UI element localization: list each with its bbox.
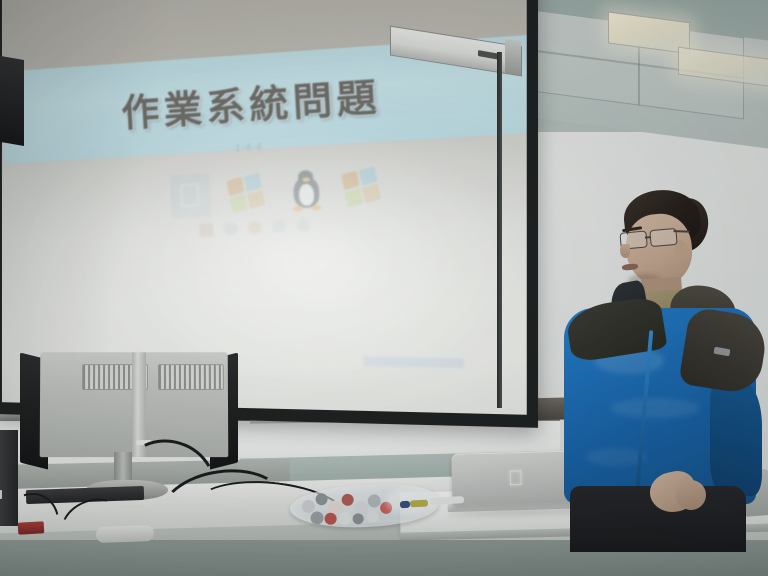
slide-footnote-bar: [363, 357, 464, 368]
mini-icon-5: [296, 218, 311, 232]
slide-subtitle: 1-4-4: [235, 141, 263, 153]
mini-icon-1: [199, 223, 213, 237]
nose: [620, 244, 630, 258]
windows-logo-icon: [340, 164, 383, 210]
second-monitor: [0, 52, 24, 146]
windows-logo-icon: [226, 170, 268, 215]
mini-icon-4: [272, 219, 287, 233]
jacket-right-panel: [710, 380, 762, 496]
linux-tux-logo-icon: [283, 167, 326, 213]
monitor-vent-icon: [158, 364, 224, 390]
tower-badge: [0, 490, 2, 499]
apple-logo-icon: : [170, 174, 212, 219]
projector-screen-roller-end: [505, 39, 521, 76]
presenter: [546, 190, 766, 520]
monitor-back-panel: [40, 352, 229, 457]
screen-right-edge: [497, 52, 502, 408]
whiteboard-markers: [410, 500, 428, 508]
whiteboard-markers: [400, 501, 410, 509]
mini-icon-3: [248, 220, 262, 234]
mini-icon-2: [223, 221, 237, 235]
apple-logo-icon: : [508, 468, 524, 489]
photo-scene: 作業系統問題 1-4-4 : [0, 0, 768, 576]
slide-os-logo-row: : [169, 159, 384, 224]
